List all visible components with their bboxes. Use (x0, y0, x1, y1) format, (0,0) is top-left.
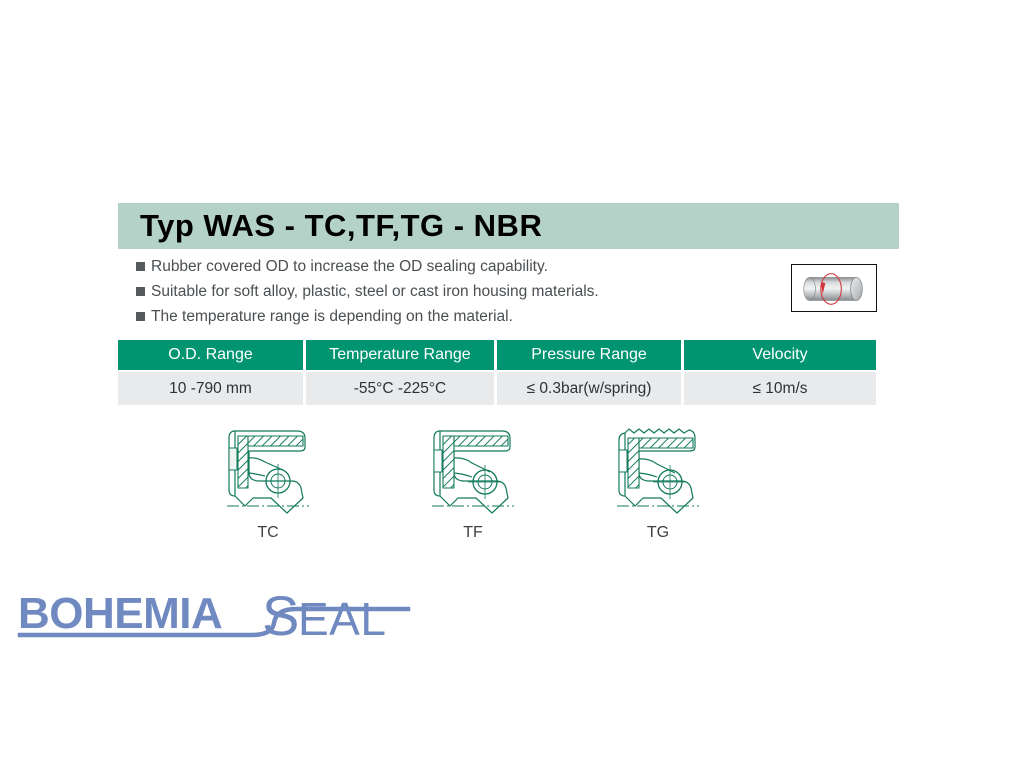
column-header-temperature-range: Temperature Range (306, 340, 497, 370)
seal-label-tg: TG (603, 524, 713, 542)
square-bullet-icon (136, 287, 145, 296)
list-item-label: Suitable for soft alloy, plastic, steel … (151, 281, 599, 302)
cell-pressure-range: ≤ 0.3bar(w/spring) (497, 372, 684, 405)
seal-tg-graphic (603, 418, 713, 521)
seal-diagram-group: TC (118, 418, 878, 553)
seal-diagram-tg: TG (603, 418, 713, 542)
seal-tc-icon (213, 418, 323, 521)
list-item: Suitable for soft alloy, plastic, steel … (136, 281, 756, 303)
specification-table: O.D. Range Temperature Range Pressure Ra… (118, 340, 876, 405)
seal-tc-graphic (213, 418, 323, 521)
logo-word-bohemia: BOHEMIA (18, 589, 222, 638)
cell-temperature-range: -55°C -225°C (306, 372, 497, 405)
column-header-od-range: O.D. Range (118, 340, 306, 370)
list-item-label: Rubber covered OD to increase the OD sea… (151, 256, 548, 277)
seal-diagram-tc: TC (213, 418, 323, 542)
column-header-pressure-range: Pressure Range (497, 340, 684, 370)
seal-tg-icon (603, 418, 713, 521)
seal-tf-icon (418, 418, 528, 521)
rotating-shaft-icon (791, 264, 877, 312)
cell-velocity: ≤ 10m/s (684, 372, 876, 405)
rotating-shaft-graphic (792, 265, 876, 311)
feature-bullet-list: Rubber covered OD to increase the OD sea… (136, 256, 756, 331)
table-header-row: O.D. Range Temperature Range Pressure Ra… (118, 340, 876, 370)
list-item-label: The temperature range is depending on th… (151, 306, 513, 327)
seal-label-tc: TC (213, 524, 323, 542)
seal-label-tf: TF (418, 524, 528, 542)
list-item: Rubber covered OD to increase the OD sea… (136, 256, 756, 278)
table-row: 10 -790 mm -55°C -225°C ≤ 0.3bar(w/sprin… (118, 372, 876, 405)
square-bullet-icon (136, 262, 145, 271)
page-title: Typ WAS - TC,TF,TG - NBR (140, 208, 542, 244)
seal-tf-graphic (418, 418, 528, 521)
seal-diagram-tf: TF (418, 418, 528, 542)
slide-page: Typ WAS - TC,TF,TG - NBR Rubber covered … (0, 0, 1024, 768)
title-band: Typ WAS - TC,TF,TG - NBR (118, 203, 899, 249)
square-bullet-icon (136, 312, 145, 321)
bohemia-seal-logo-graphic: BOHEMIA S EAL (16, 583, 416, 645)
company-logo: BOHEMIA S EAL (16, 583, 416, 645)
column-header-velocity: Velocity (684, 340, 876, 370)
cell-od-range: 10 -790 mm (118, 372, 306, 405)
logo-word-seal-rest: EAL (298, 593, 386, 645)
list-item: The temperature range is depending on th… (136, 306, 756, 328)
